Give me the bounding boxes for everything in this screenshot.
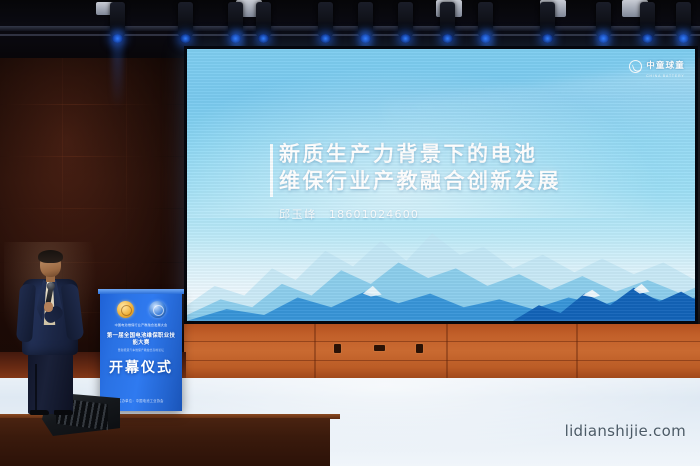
led-presentation-screen: 中童球童 CHINA BATTERY 新质生产力背景下的电池 维保行业产教融合创… [184, 46, 698, 324]
gold-emblem-icon [117, 301, 134, 318]
blue-emblem-icon [149, 301, 166, 318]
brand-mark-icon [629, 60, 642, 73]
podium-banner-main: 第一届全国电池维保职业技能大赛 [105, 333, 177, 347]
podium-emblems [100, 301, 182, 318]
podium-banner-header: 中国电池维保行业产教融合发展大会 [105, 323, 177, 328]
slide-brand-logo: 中童球童 CHINA BATTERY [629, 55, 685, 78]
slide-title-line-1: 新质生产力背景下的电池 [279, 141, 639, 168]
podium-banner-sub: 暨新能源汽车维保产教融合高峰论坛 [105, 348, 177, 352]
presenter-person [14, 252, 86, 412]
auditorium-stage-photo: 中童球童 CHINA BATTERY 新质生产力背景下的电池 维保行业产教融合创… [0, 0, 700, 466]
presenter-hair [38, 250, 63, 263]
brand-name-cn: 中童球童 [646, 60, 685, 70]
wall-outlet [416, 344, 423, 353]
wall-outlet [374, 345, 385, 351]
stage-light [256, 2, 271, 38]
slide-title-block: 新质生产力背景下的电池 维保行业产教融合创新发展 邱玉峰 18601024600 [279, 141, 639, 222]
mountain-illustration [187, 212, 695, 321]
presenter-name: 邱玉峰 [279, 208, 317, 221]
podium-event-title: 开幕仪式 [100, 359, 182, 378]
stage-light [178, 2, 193, 38]
slide-background: 中童球童 CHINA BATTERY 新质生产力背景下的电池 维保行业产教融合创… [187, 49, 695, 321]
stage-light [540, 2, 555, 38]
stage-light [398, 2, 413, 38]
stage-light [440, 2, 455, 38]
wall-outlet [334, 344, 341, 353]
slide-title-line-2: 维保行业产教融合创新发展 [279, 168, 639, 195]
stage-light [318, 2, 333, 38]
lower-wood-wall [184, 324, 700, 380]
title-accent-bar [270, 144, 273, 197]
presenter-shoe [30, 410, 49, 415]
brand-name-sub: CHINA BATTERY [646, 74, 685, 78]
presenter-phone: 18601024600 [329, 208, 419, 221]
slide-presenter-line: 邱玉峰 18601024600 [279, 206, 639, 222]
stage-light [640, 2, 655, 38]
presenter-shoe [54, 410, 73, 415]
presenter-hand [44, 302, 53, 312]
watermark-text: lidianshijie.com [565, 422, 686, 440]
